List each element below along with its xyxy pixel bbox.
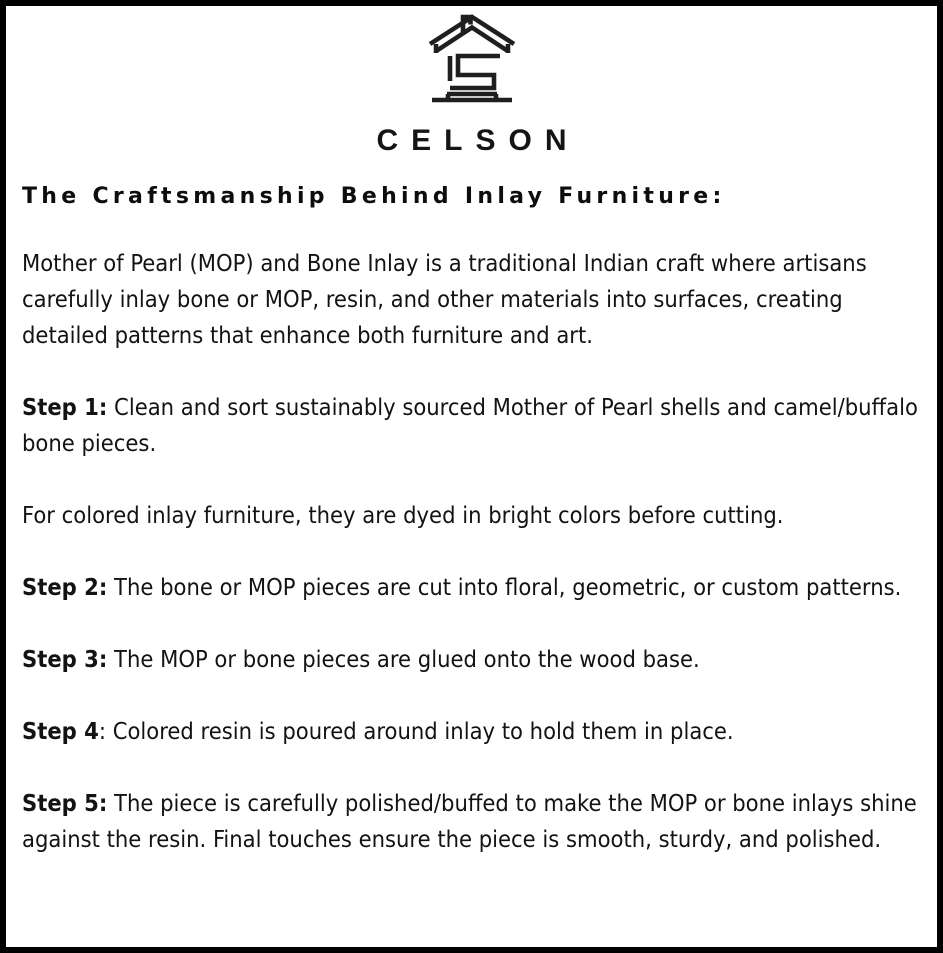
step-label: Step 4 bbox=[22, 717, 99, 745]
paragraph-intro: Mother of Pearl (MOP) and Bone Inlay is … bbox=[22, 245, 919, 353]
step-label: Step 5: bbox=[22, 789, 107, 817]
paragraph-step-4: Step 4: Colored resin is poured around i… bbox=[22, 713, 919, 749]
step-label: Step 3: bbox=[22, 645, 107, 673]
paragraph-step-5: Step 5: The piece is carefully polished/… bbox=[22, 785, 919, 857]
paragraph-note-colored: For colored inlay furniture, they are dy… bbox=[22, 497, 919, 533]
paragraph-step-3: Step 3: The MOP or bone pieces are glued… bbox=[22, 641, 919, 677]
paragraph-step-1: Step 1: Clean and sort sustainably sourc… bbox=[22, 389, 919, 461]
brand-block: CELSON bbox=[6, 6, 937, 156]
paragraph-text: The MOP or bone pieces are glued onto th… bbox=[107, 645, 699, 673]
page-title: The Craftsmanship Behind Inlay Furniture… bbox=[22, 183, 919, 211]
step-label: Step 1: bbox=[22, 393, 107, 421]
content-column: The Craftsmanship Behind Inlay Furniture… bbox=[6, 183, 937, 857]
step-label: Step 2: bbox=[22, 573, 107, 601]
paragraph-text: The bone or MOP pieces are cut into flor… bbox=[107, 573, 901, 601]
paragraph-text: The piece is carefully polished/buffed t… bbox=[22, 789, 917, 853]
paragraph-text: Mother of Pearl (MOP) and Bone Inlay is … bbox=[22, 249, 867, 349]
paragraph-text: Clean and sort sustainably sourced Mothe… bbox=[22, 393, 918, 457]
brand-wordmark: CELSON bbox=[6, 126, 937, 156]
paragraph-step-2: Step 2: The bone or MOP pieces are cut i… bbox=[22, 569, 919, 605]
poster-card: CELSON The Craftsmanship Behind Inlay Fu… bbox=[0, 0, 943, 953]
house-monogram-icon bbox=[424, 12, 520, 112]
paragraph-text: For colored inlay furniture, they are dy… bbox=[22, 501, 784, 529]
paragraph-text: : Colored resin is poured around inlay t… bbox=[99, 717, 734, 745]
